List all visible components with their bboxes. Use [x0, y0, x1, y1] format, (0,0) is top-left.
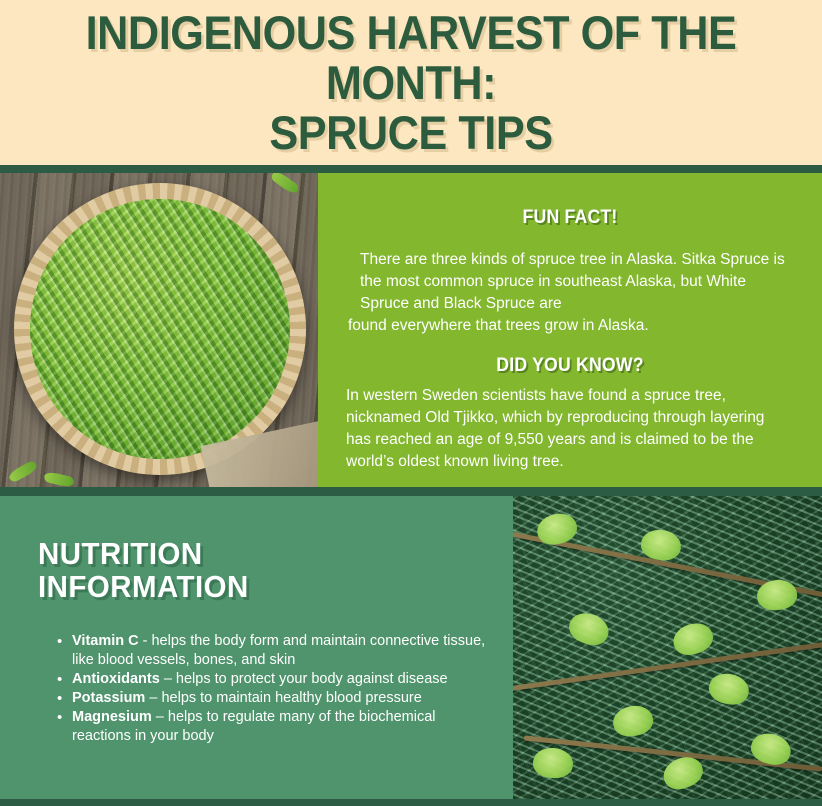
spruce-tips-pile	[30, 199, 290, 459]
list-item: Magnesium – helps to regulate many of th…	[72, 708, 492, 746]
nutrient-name: Magnesium	[72, 709, 152, 725]
page-title-line-1: INDIGENOUS HARVEST OF THE	[61, 8, 760, 58]
divider-bar-top	[0, 165, 822, 173]
fun-fact-body: There are three kinds of spruce tree in …	[348, 249, 810, 337]
divider-bar-middle	[0, 487, 822, 496]
fun-fact-line-4: found everywhere that trees grow in Alas…	[348, 315, 810, 337]
did-you-know-line-4: world’s oldest known living tree.	[346, 451, 816, 473]
did-you-know-heading: DID YOU KNOW?	[336, 355, 805, 377]
basket-photo	[0, 173, 318, 487]
nutrition-list: Vitamin C - helps the body form and main…	[50, 632, 492, 746]
nutrient-description: – helps to maintain healthy blood pressu…	[145, 690, 421, 706]
woven-basket	[14, 183, 306, 475]
did-you-know-body: In western Sweden scientists have found …	[346, 385, 816, 473]
nutrient-name: Antioxidants	[72, 671, 160, 687]
nutrient-name: Vitamin C	[72, 633, 139, 649]
divider-bar-bottom	[0, 799, 822, 806]
did-you-know-line-1: In western Sweden scientists have found …	[346, 385, 816, 407]
nutrition-heading: NUTRITION INFORMATION	[38, 537, 456, 603]
nutrient-description: – helps to protect your body against dis…	[160, 671, 448, 687]
spruce-tips-texture	[30, 199, 290, 459]
nutrient-name: Potassium	[72, 690, 145, 706]
page-title-line-3: SPRUCE TIPS	[61, 108, 760, 158]
did-you-know-line-3: has reached an age of 9,550 years and is…	[346, 429, 816, 451]
fun-fact-line-2: the most common spruce in southeast Alas…	[348, 271, 810, 293]
page-title-line-2: MONTH:	[61, 58, 760, 108]
fun-fact-heading: FUN FACT!	[336, 207, 805, 229]
infographic-poster: INDIGENOUS HARVEST OF THE MONTH: SPRUCE …	[0, 0, 822, 806]
fun-fact-line-1: There are three kinds of spruce tree in …	[348, 249, 810, 271]
list-item: Potassium – helps to maintain healthy bl…	[72, 689, 492, 708]
header-band: INDIGENOUS HARVEST OF THE MONTH: SPRUCE …	[0, 0, 822, 165]
list-item: Antioxidants – helps to protect your bod…	[72, 670, 492, 689]
spruce-branch-photo	[513, 496, 822, 806]
list-item: Vitamin C - helps the body form and main…	[72, 632, 492, 670]
nutrition-heading-line-2: INFORMATION	[38, 570, 456, 603]
facts-panel: FUN FACT! There are three kinds of spruc…	[318, 173, 822, 487]
nutrition-heading-line-1: NUTRITION	[38, 537, 456, 570]
did-you-know-line-2: nicknamed Old Tjikko, which by reproduci…	[346, 407, 816, 429]
fun-fact-line-3: Spruce and Black Spruce are	[348, 293, 810, 315]
page-title: INDIGENOUS HARVEST OF THE MONTH: SPRUCE …	[61, 8, 760, 158]
